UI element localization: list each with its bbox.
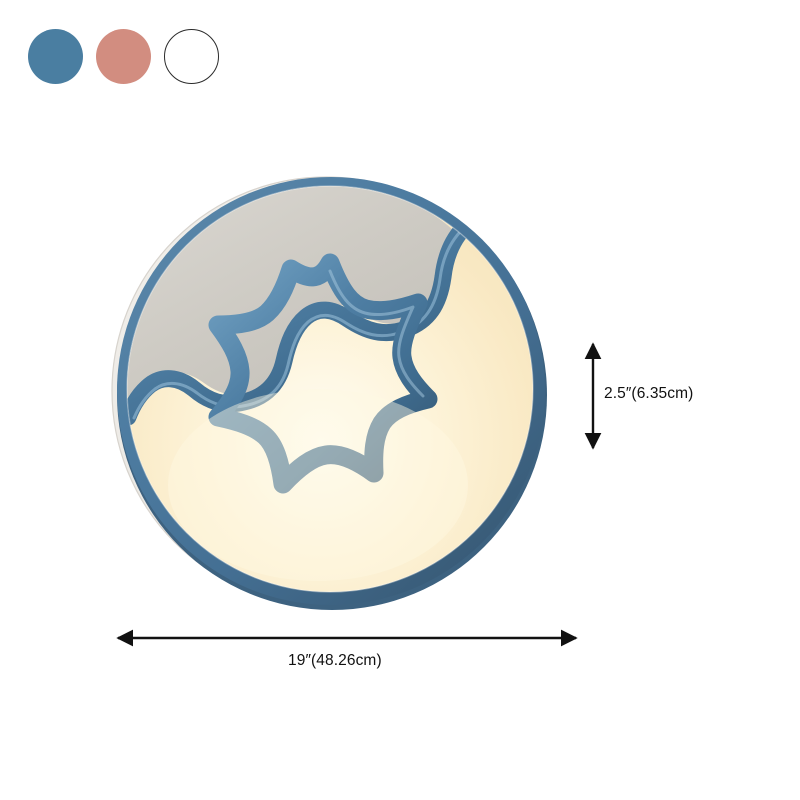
width-dimension-label: 19″(48.26cm)	[288, 652, 382, 670]
glow-pool	[168, 389, 468, 581]
color-swatch-white[interactable]	[164, 29, 219, 84]
product-image-ceiling-lamp	[108, 155, 552, 617]
color-swatch-pink[interactable]	[96, 29, 151, 84]
lamp-diffuser-face	[108, 155, 552, 617]
color-swatch-strip[interactable]	[28, 29, 219, 84]
color-swatch-blue[interactable]	[28, 29, 83, 84]
lamp-illustration	[108, 155, 552, 617]
height-dimension-label: 2.5″(6.35cm)	[604, 385, 693, 403]
